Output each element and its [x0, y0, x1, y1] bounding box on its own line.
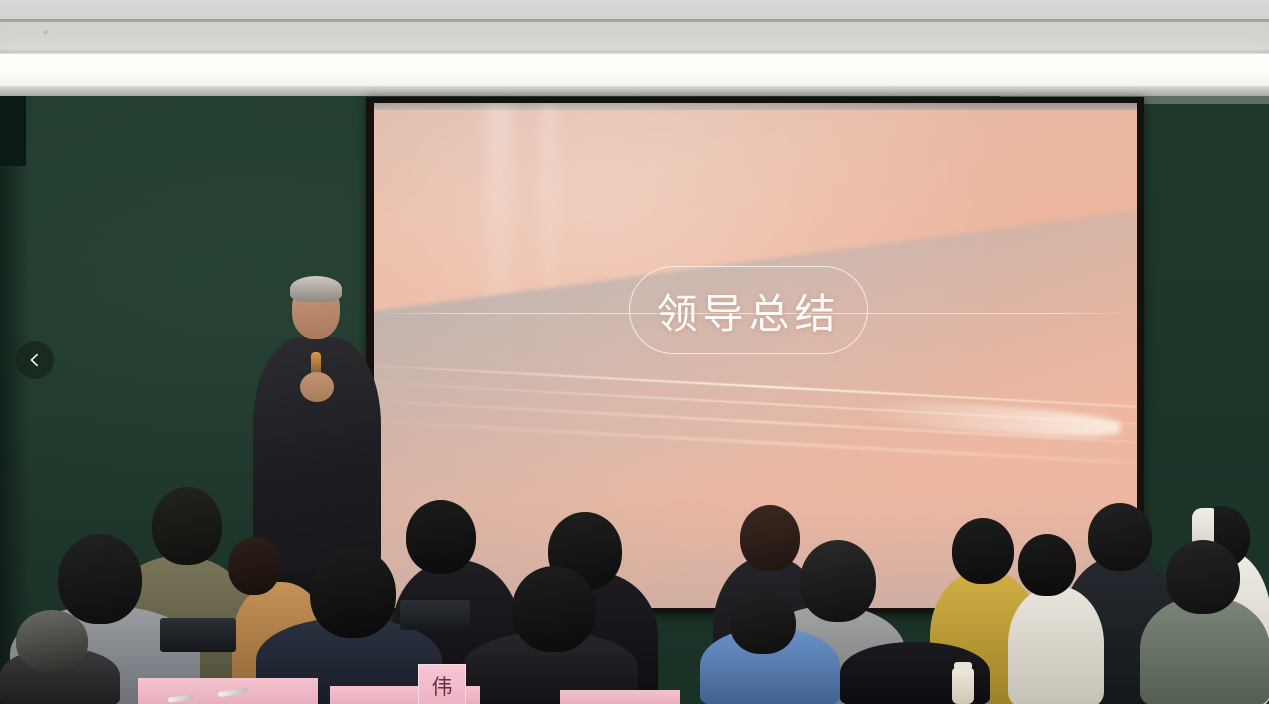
laptop	[160, 618, 236, 652]
laptop	[400, 600, 470, 630]
photo-viewer-stage: 领导总结	[0, 0, 1269, 704]
water-bottle	[952, 668, 974, 704]
speaker-hands	[300, 372, 334, 402]
slide-title-pill: 领导总结	[629, 266, 868, 354]
previous-image-button[interactable]	[16, 341, 54, 379]
slide-title: 领导总结	[657, 280, 841, 340]
ceiling-seam	[0, 19, 1269, 22]
ceiling-fixture-screw	[43, 30, 48, 35]
ceiling-light-strip	[0, 54, 1269, 88]
table-cloth	[560, 690, 680, 704]
name-card-text: 伟	[432, 671, 453, 701]
bottle-cap	[954, 662, 972, 670]
name-card: 伟	[418, 664, 466, 704]
wall-shadow	[0, 96, 30, 704]
wall-corner-shadow	[0, 96, 26, 166]
speaker-hair	[290, 276, 342, 302]
ceiling-seam	[0, 50, 1269, 53]
chevron-left-icon	[27, 352, 43, 368]
